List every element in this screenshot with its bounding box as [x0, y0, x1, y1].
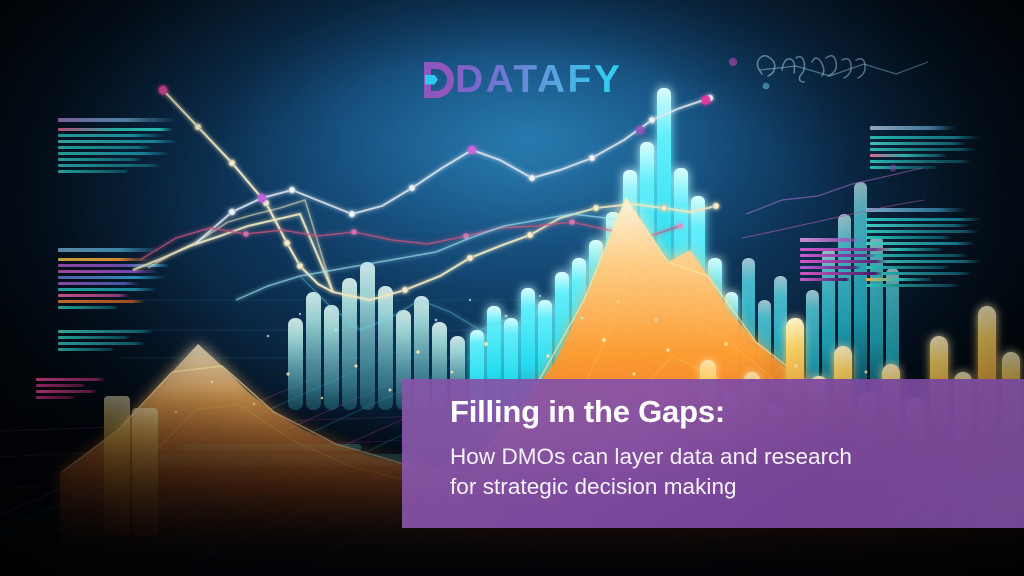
page-title: Filling in the Gaps: — [450, 395, 725, 429]
hero-banner: DATAFY Filling in the Gaps: How DMOs can… — [0, 0, 1024, 576]
logo-wordmark: DATAFY — [455, 60, 622, 99]
page-subtitle: How DMOs can layer data and research for… — [450, 442, 852, 501]
subtitle-line-2: for strategic decision making — [450, 472, 852, 502]
title-panel: Filling in the Gaps: How DMOs can layer … — [402, 379, 1024, 528]
datafy-logo: DATAFY — [424, 60, 622, 99]
logo-d-icon — [424, 62, 454, 98]
subtitle-line-1: How DMOs can layer data and research — [450, 442, 852, 472]
